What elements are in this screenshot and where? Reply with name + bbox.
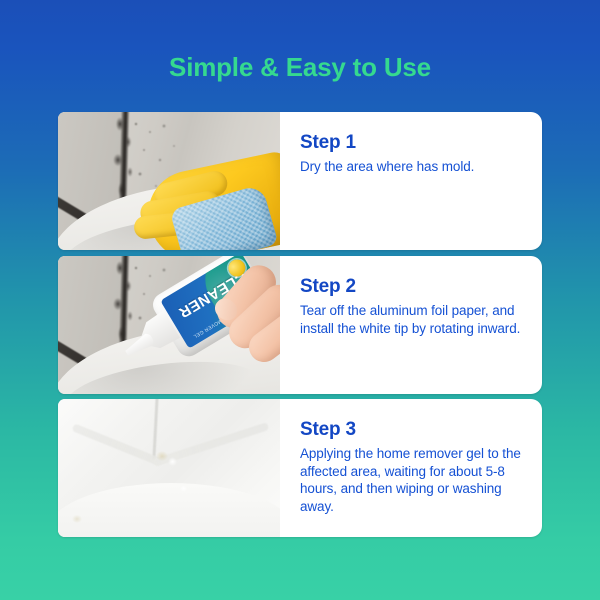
step-2-body: Tear off the aluminum foil paper, and in… [300,302,528,337]
step-1-heading: Step 1 [300,132,528,154]
step-card-2: CLEANER MOLD REMOVER GEL Step 2 Tear off… [58,256,542,394]
page-title: Simple & Easy to Use [0,52,600,82]
step-3-photo [58,399,280,537]
step-1-photo [58,112,280,250]
step-3-heading: Step 3 [300,419,528,441]
faint-stain-mark [156,451,168,461]
step-card-1: Step 1 Dry the area where has mold. [58,112,542,250]
product-instruction-poster: Simple & Easy to Use Step 1 Dry the area… [0,0,600,600]
step-1-text: Step 1 Dry the area where has mold. [280,112,542,250]
step-3-body: Applying the home remover gel to the aff… [300,445,528,515]
gloss-highlight [168,457,177,466]
step-2-photo: CLEANER MOLD REMOVER GEL [58,256,280,394]
step-2-text: Step 2 Tear off the aluminum foil paper,… [280,256,542,394]
step-1-body: Dry the area where has mold. [300,158,528,176]
faint-stain-mark [72,515,82,523]
step-3-text: Step 3 Applying the home remover gel to … [280,399,542,537]
step-2-heading: Step 2 [300,276,528,298]
step-card-3: Step 3 Applying the home remover gel to … [58,399,542,537]
gloss-highlight [180,485,187,492]
